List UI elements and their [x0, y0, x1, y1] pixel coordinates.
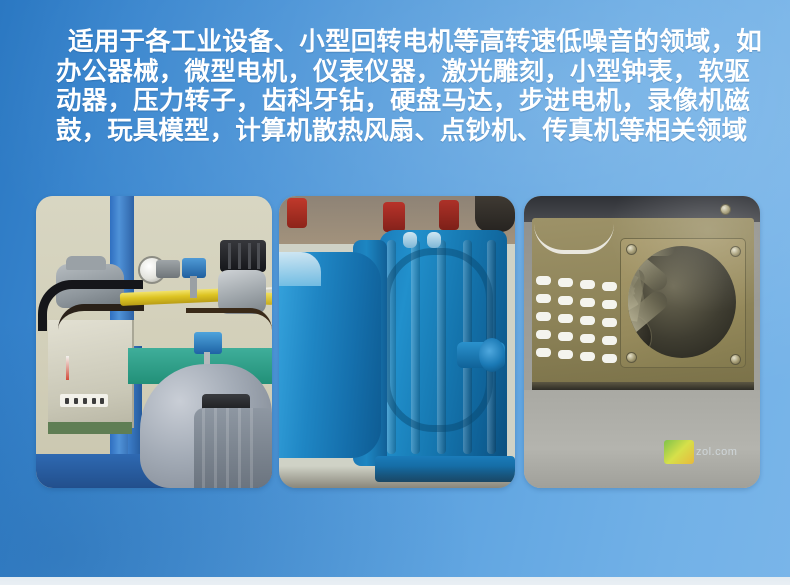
valve-stem	[190, 276, 197, 298]
photo-2-image	[279, 196, 515, 488]
photo-card-cooling-fan[interactable]: zol.com	[524, 196, 760, 488]
casing-arc	[383, 248, 493, 432]
switch-row	[60, 394, 108, 407]
red-equipment-1	[287, 198, 307, 228]
lifting-ear-left	[403, 232, 417, 248]
gas-regulator-top	[66, 256, 106, 270]
dark-equipment	[475, 196, 515, 232]
black-actuator	[220, 240, 266, 272]
red-equipment-2	[383, 202, 405, 232]
headline-line-4: 鼓，玩具模型，计算机散热风扇、点钞机、传真机等相关领域	[56, 117, 746, 147]
outlet-flange	[479, 338, 505, 372]
headline-line-3: 动器，压力转子，齿科牙钻，硬盘马达，步进电机，录像机磁	[56, 87, 746, 117]
cabinet-base	[48, 422, 132, 434]
headline-text: 适用于各工业设备、小型回转电机等高转速低噪音的领域，如 办公器械，微型电机，仪表…	[56, 28, 746, 146]
photo-glare	[524, 196, 760, 488]
drum-highlight	[279, 252, 321, 286]
indicator-led	[66, 356, 69, 380]
blue-sensor-box	[194, 332, 222, 354]
gauge-body	[156, 260, 180, 278]
bottom-strip	[0, 577, 790, 585]
blue-solenoid-valve	[182, 258, 206, 278]
photo-card-roots-blower[interactable]	[279, 196, 515, 488]
photo-strip: zol.com	[0, 196, 790, 496]
headline-line-2: 办公器械，微型电机，仪表仪器，激光雕刻，小型钟表，软驱	[56, 58, 746, 88]
photo-card-gas-burner[interactable]	[36, 196, 272, 488]
promo-banner: 适用于各工业设备、小型回转电机等高转速低噪音的领域，如 办公器械，微型电机，仪表…	[0, 0, 790, 585]
ground-shadow	[279, 466, 515, 488]
lifting-ear-right	[427, 232, 441, 248]
photo-1-image	[36, 196, 272, 488]
red-equipment-3	[439, 200, 459, 230]
black-hose-secondary	[58, 304, 144, 335]
electric-motor	[194, 408, 272, 488]
control-cabinet	[48, 320, 134, 428]
photo-3-image: zol.com	[524, 196, 760, 488]
headline-line-1: 适用于各工业设备、小型回转电机等高转速低噪音的领域，如	[56, 28, 746, 58]
